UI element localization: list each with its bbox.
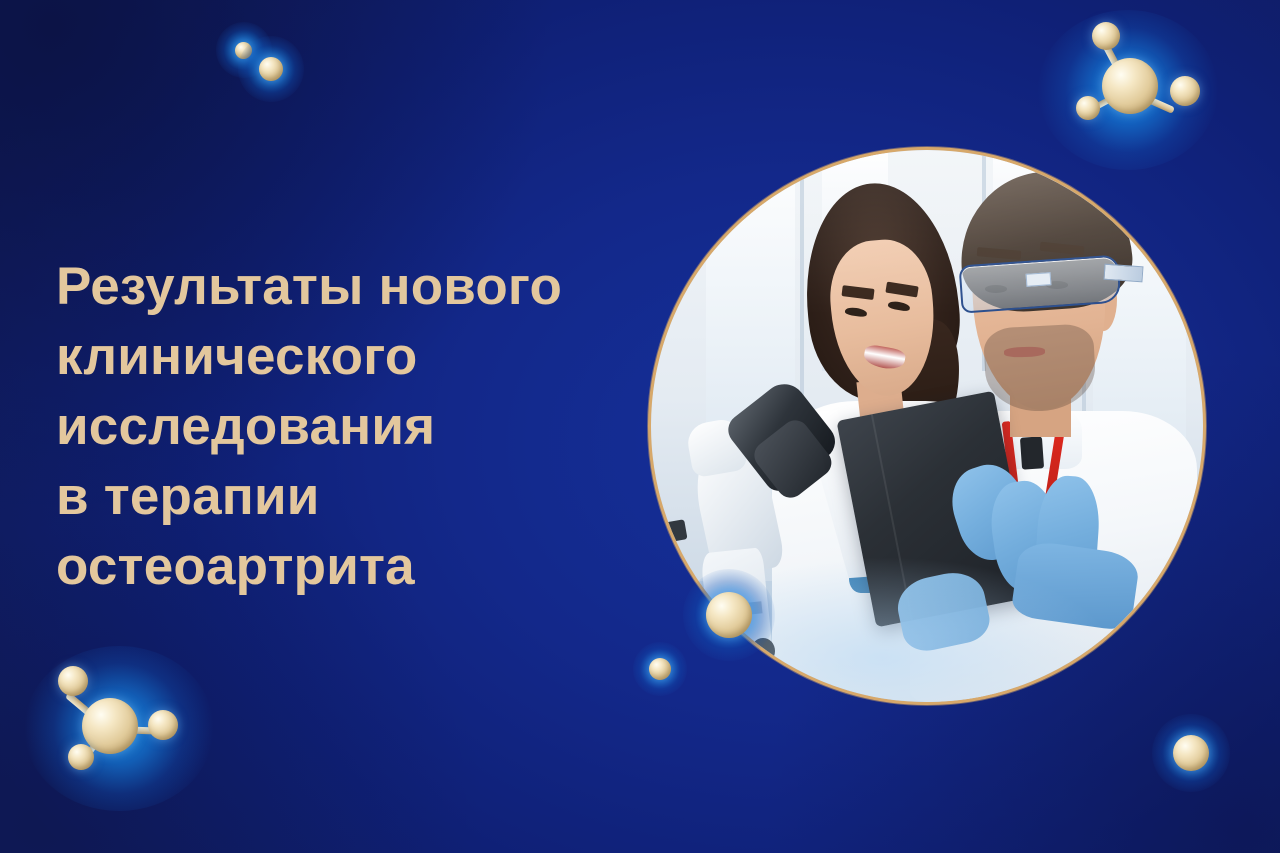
sphere-body (649, 658, 671, 680)
sphere-large (259, 57, 283, 81)
molecule-atom-top (1092, 22, 1120, 50)
man-stubble (983, 323, 1098, 413)
molecule-atom-right (148, 710, 178, 740)
microscope (668, 409, 850, 702)
molecule-atom-bottom (68, 744, 94, 770)
safety-goggles-bridge (1026, 272, 1052, 286)
page-title: Результаты нового клинического исследова… (56, 252, 616, 602)
microscope-side-knob (662, 519, 687, 543)
molecule-atom-top-left (58, 666, 88, 696)
sphere-small (235, 42, 252, 59)
molecule-atom-center (82, 698, 138, 754)
man-badge-clip (1020, 436, 1044, 469)
promo-banner: Результаты нового клинического исследова… (0, 0, 1280, 853)
molecule-atom-center (1102, 58, 1158, 114)
safety-goggles-temple-arm (1103, 263, 1143, 282)
man-mouth (1004, 346, 1046, 357)
molecule-bottom-left (20, 640, 220, 810)
molecule-atom-left (1076, 96, 1100, 120)
molecule-atom-right (1170, 76, 1200, 106)
molecule-top-right (1030, 10, 1230, 160)
sphere-body (706, 592, 752, 638)
microscope-focus-knob (751, 638, 775, 664)
sphere-body (1173, 735, 1209, 771)
